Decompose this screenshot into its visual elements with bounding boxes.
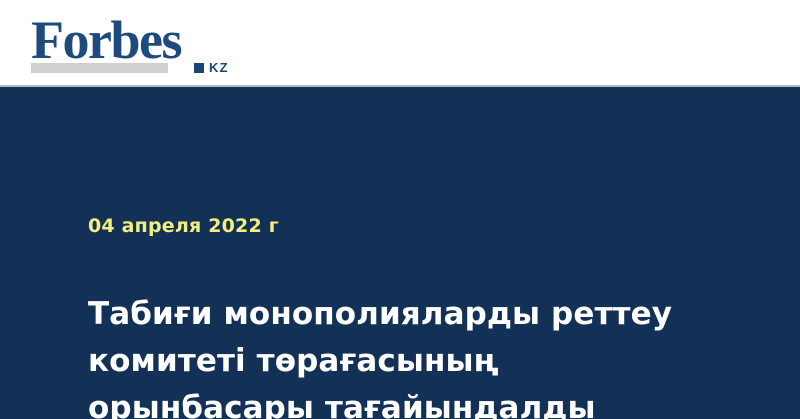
forbes-kz-logo[interactable]: Forbes KZ: [31, 13, 231, 75]
article-headline: Табиғи монополияларды реттеу комитеті тө…: [88, 291, 728, 419]
site-header: Forbes KZ: [0, 0, 800, 87]
headline-line-1: Табиғи монополияларды реттеу: [88, 291, 728, 338]
headline-line-2: комитеті төрағасының: [88, 338, 728, 385]
forbes-wordmark: Forbes: [31, 13, 181, 67]
blue-square-icon: [194, 63, 204, 73]
logo-kz-label: KZ: [209, 61, 229, 74]
article-card: Forbes KZ 04 апреля 2022 г Табиғи монопо…: [0, 0, 800, 419]
article-date: 04 апреля 2022 г: [88, 214, 279, 238]
article-hero-panel: 04 апреля 2022 г Табиғи монополияларды р…: [0, 87, 800, 419]
headline-line-3: орынбасары тағайындалды: [88, 385, 728, 419]
logo-gray-bar: [31, 63, 168, 73]
